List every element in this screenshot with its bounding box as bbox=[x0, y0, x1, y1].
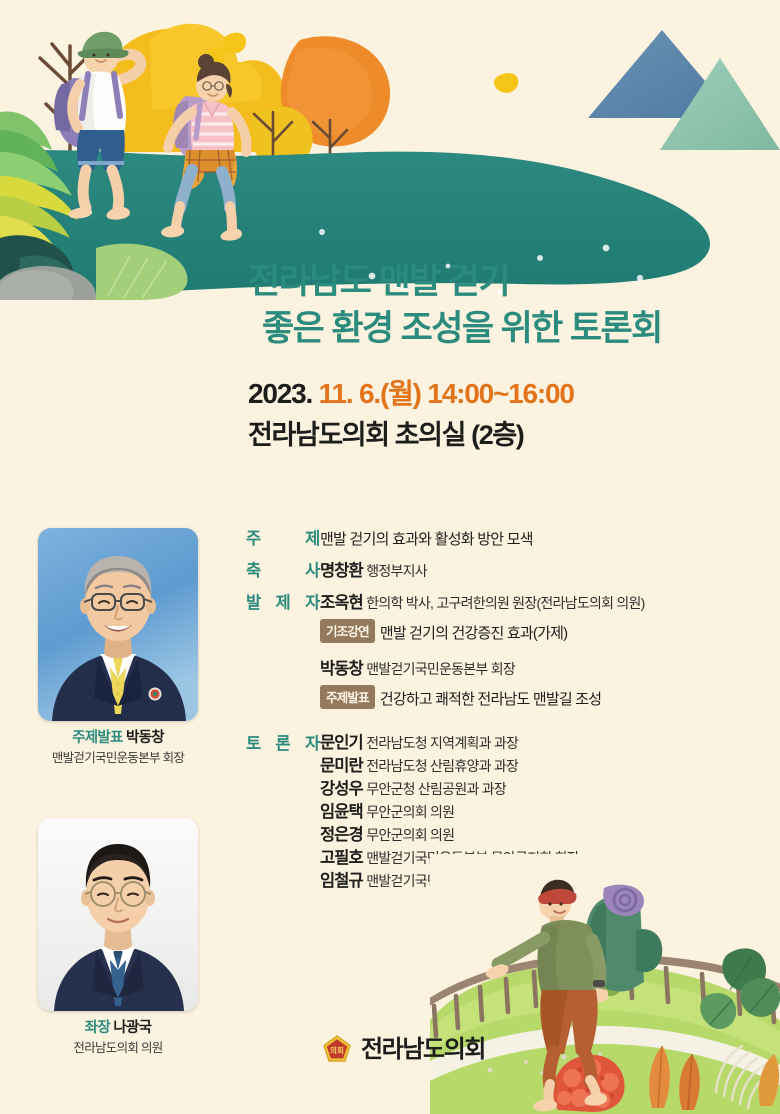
assembly-emblem-svg: 의회 bbox=[322, 1035, 352, 1065]
speaker-affiliation-1: 맨발걷기국민운동본부 회장 bbox=[38, 750, 198, 767]
bottom-illustration bbox=[430, 854, 780, 1114]
program-details: 주 제 맨발 걷기의 효과와 활성화 방안 모색 축 사 명창환 행정부지사 발… bbox=[246, 528, 766, 893]
label-panelists: 토 론 자 bbox=[246, 732, 320, 893]
speaker-role-2: 좌장 bbox=[85, 1020, 110, 1036]
panelist-row: 강성우 무안군청 산림공원과 과장 bbox=[320, 778, 766, 801]
presenter-2-topic: 건강하고 쾌적한 전라남도 맨발길 조성 bbox=[380, 691, 601, 708]
label-topic: 주 제 bbox=[246, 528, 320, 551]
panelist-title: 무안군청 산림공원과 과장 bbox=[366, 781, 506, 797]
panelist-name: 정은경 bbox=[320, 826, 363, 844]
poster-root: 전라남도 맨발 걷기 좋은 환경 조성을 위한 토론회 2023. 11. 6.… bbox=[0, 0, 780, 1114]
label-panelists-char-1: 토 bbox=[246, 732, 261, 893]
presenter-1-name: 조옥현 bbox=[320, 594, 363, 612]
congrat-title: 행정부지사 bbox=[366, 563, 427, 579]
assembly-emblem-icon: 의회 bbox=[322, 1035, 352, 1065]
top-illustration bbox=[0, 0, 780, 300]
speaker-card-1: 주제발표 박동창 맨발걷기국민운동본부 회장 bbox=[38, 528, 198, 766]
event-datetime: 2023. 11. 6.(월) 14:00~16:00 bbox=[248, 376, 768, 412]
label-topic-char-1: 주 bbox=[246, 528, 261, 551]
panelist-name: 임윤택 bbox=[320, 803, 363, 821]
event-date-time: 11. 6.(월) 14:00~16:00 bbox=[319, 378, 574, 409]
label-congrat-char-2: 사 bbox=[305, 560, 320, 583]
program-row-topic: 주 제 맨발 걷기의 효과와 활성화 방안 모색 bbox=[246, 528, 766, 551]
title-block: 전라남도 맨발 걷기 좋은 환경 조성을 위한 토론회 2023. 11. 6.… bbox=[248, 258, 768, 452]
label-topic-char-2: 제 bbox=[305, 528, 320, 551]
panelist-name: 고필호 bbox=[320, 849, 363, 867]
speaker-caption-1: 주제발표 박동창 맨발걷기국민운동본부 회장 bbox=[38, 729, 198, 766]
panelist-row: 문미란 전라남도청 산림휴양과 과장 bbox=[320, 755, 766, 778]
panelist-name: 문인기 bbox=[320, 734, 363, 752]
label-congrat-char-1: 축 bbox=[246, 560, 261, 583]
portrait-elder-man bbox=[38, 528, 198, 721]
bottom-illustration-svg bbox=[430, 854, 780, 1114]
panelist-row: 임윤택 무안군의회 의원 bbox=[320, 801, 766, 824]
label-presenters-char-1: 발 bbox=[246, 592, 261, 615]
presenter-2-name: 박동창 bbox=[320, 660, 363, 678]
speaker-caption-2: 좌장 나광국 전라남도의회 의원 bbox=[38, 1019, 198, 1056]
panelist-name: 임철규 bbox=[320, 872, 363, 890]
title-line-2: 좋은 환경 조성을 위한 토론회 bbox=[262, 305, 768, 352]
panelist-name: 문미란 bbox=[320, 757, 363, 775]
presenter-2-title: 맨발걷기국민운동본부 회장 bbox=[366, 661, 515, 677]
label-panelists-char-2: 론 bbox=[276, 732, 291, 893]
presenter-1-title: 한의학 박사, 고구려한의원 원장(전라남도의회 의원) bbox=[366, 595, 644, 611]
presenter-2-topic-row: 주제발표건강하고 쾌적한 전라남도 맨발길 조성 bbox=[320, 685, 766, 709]
presenter-2: 박동창 맨발걷기국민운동본부 회장 bbox=[320, 658, 766, 681]
label-presenters-char-2: 제 bbox=[276, 592, 291, 615]
value-congrat: 명창환 행정부지사 bbox=[320, 560, 427, 583]
panelist-title: 전라남도청 산림휴양과 과장 bbox=[366, 758, 518, 774]
label-presenters-char-3: 자 bbox=[305, 592, 320, 615]
event-place: 전라남도의회 초의실 (2층) bbox=[248, 418, 768, 452]
footer-logo: 의회 전라남도의회 bbox=[322, 1035, 485, 1065]
panelist-name: 강성우 bbox=[320, 780, 363, 798]
speaker-card-2: 좌장 나광국 전라남도의회 의원 bbox=[38, 818, 198, 1056]
footer-organization: 전라남도의회 bbox=[361, 1035, 485, 1065]
presenter-1: 조옥현 한의학 박사, 고구려한의원 원장(전라남도의회 의원) bbox=[320, 592, 766, 615]
panelist-row: 문인기 전라남도청 지역계획과 과장 bbox=[320, 732, 766, 755]
speaker-name-2: 나광국 bbox=[113, 1020, 151, 1036]
label-panelists-char-3: 자 bbox=[305, 732, 320, 893]
speaker-name-1: 박동창 bbox=[126, 730, 164, 746]
panelist-row: 정은경 무안군의회 의원 bbox=[320, 824, 766, 847]
panelist-title: 무안군의회 의원 bbox=[366, 827, 454, 843]
speaker-affiliation-2: 전라남도의회 의원 bbox=[38, 1040, 198, 1057]
presenter-1-topic-row: 기조강연맨발 걷기의 건강증진 효과(가제) bbox=[320, 619, 766, 643]
title-line-1: 전라남도 맨발 걷기 bbox=[248, 258, 768, 305]
top-illustration-svg bbox=[0, 0, 780, 300]
portrait-young-man bbox=[38, 818, 198, 1011]
presenter-1-topic: 맨발 걷기의 건강증진 효과(가제) bbox=[380, 625, 568, 642]
panelist-title: 무안군의회 의원 bbox=[366, 804, 454, 820]
panelist-title: 전라남도청 지역계획과 과장 bbox=[366, 735, 518, 751]
label-congrat: 축 사 bbox=[246, 560, 320, 583]
event-year: 2023. bbox=[248, 378, 312, 409]
speaker-role-1: 주제발표 bbox=[72, 730, 123, 746]
speaker-photo-1 bbox=[38, 528, 198, 721]
program-row-congrat: 축 사 명창환 행정부지사 bbox=[246, 560, 766, 583]
congrat-name: 명창환 bbox=[320, 562, 363, 580]
label-presenters: 발 제 자 bbox=[246, 592, 320, 615]
emblem-label: 의회 bbox=[330, 1045, 344, 1055]
value-topic: 맨발 걷기의 효과와 활성화 방안 모색 bbox=[320, 528, 533, 551]
speaker-photo-2 bbox=[38, 818, 198, 1011]
badge-keynote: 기조강연 bbox=[320, 619, 375, 643]
program-row-presenters: 발 제 자 조옥현 한의학 박사, 고구려한의원 원장(전라남도의회 의원) 기… bbox=[246, 592, 766, 709]
badge-presentation: 주제발표 bbox=[320, 685, 375, 709]
